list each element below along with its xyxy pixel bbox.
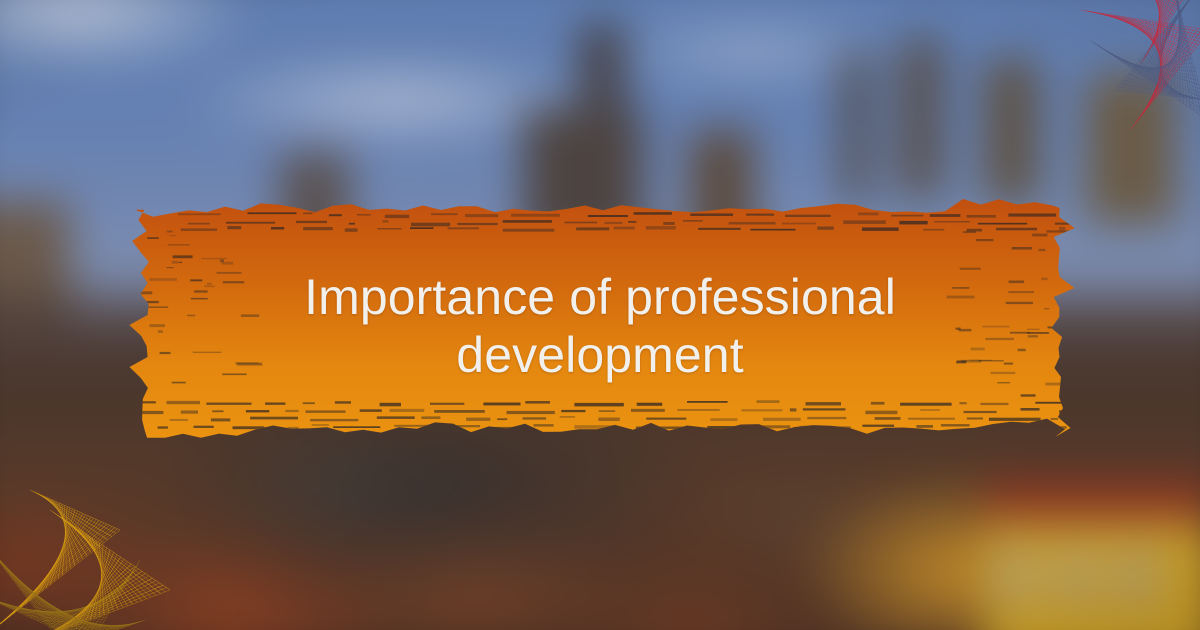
page-title: Importance of professional development [135,268,1065,384]
paint-stroke-banner: Importance of professional development [135,186,1065,448]
share-banner-canvas: Importance of professional development [0,0,1200,630]
